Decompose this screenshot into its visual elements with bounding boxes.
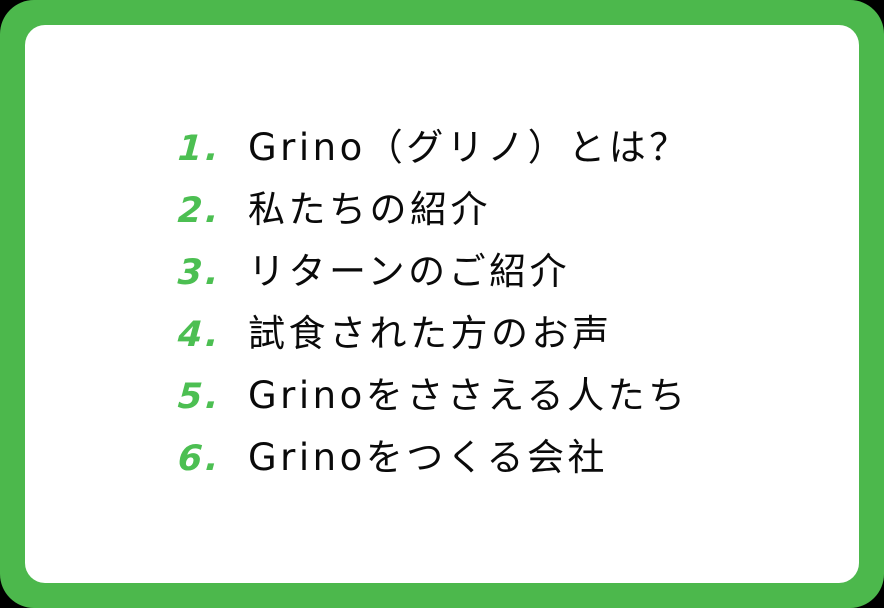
list-item-label: Grinoをささえる人たち — [248, 377, 689, 414]
list-item-number: 5. — [177, 380, 249, 415]
list-item[interactable]: 5. Grinoをささえる人たち — [178, 377, 849, 439]
list-item-number: 4. — [177, 318, 249, 353]
list-item[interactable]: 4. 試食された方のお声 — [178, 315, 849, 377]
list-item-number: 3. — [177, 256, 249, 291]
list-item-label: Grinoをつくる会社 — [248, 439, 608, 476]
white-content-panel: 1. Grino（グリノ）とは？ 2. 私たちの紹介 3. リターンのご紹介 4… — [25, 25, 859, 583]
list-item-label: 試食された方のお声 — [248, 315, 613, 352]
list-item-number: 1. — [177, 132, 249, 167]
list-item-number: 2. — [177, 194, 249, 229]
list-item-label: リターンのご紹介 — [248, 253, 570, 290]
list-item-label: 私たちの紹介 — [248, 191, 491, 228]
green-card-frame: 1. Grino（グリノ）とは？ 2. 私たちの紹介 3. リターンのご紹介 4… — [0, 0, 884, 608]
list-item-number: 6. — [177, 442, 249, 477]
list-item[interactable]: 1. Grino（グリノ）とは？ — [178, 129, 849, 191]
table-of-contents-list: 1. Grino（グリノ）とは？ 2. 私たちの紹介 3. リターンのご紹介 4… — [138, 129, 849, 501]
list-item-label: Grino（グリノ）とは？ — [248, 129, 690, 166]
list-item[interactable]: 6. Grinoをつくる会社 — [178, 439, 849, 501]
list-item[interactable]: 2. 私たちの紹介 — [178, 191, 849, 253]
list-item[interactable]: 3. リターンのご紹介 — [178, 253, 849, 315]
